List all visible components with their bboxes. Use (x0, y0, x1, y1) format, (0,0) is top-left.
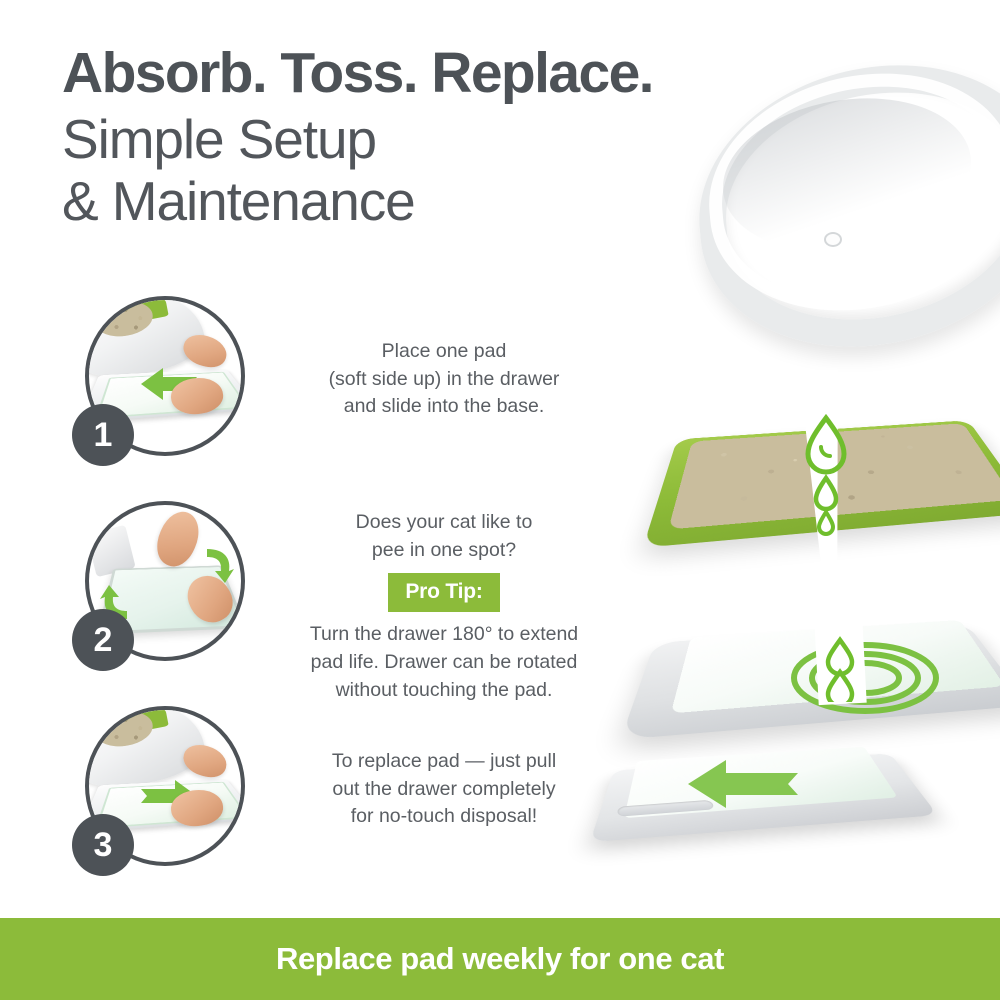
step-2-question-line-2: pee in one spot? (268, 537, 620, 565)
step-3-line-3: for no-touch disposal! (268, 803, 620, 831)
banner-text: Replace pad weekly for one cat (276, 941, 724, 977)
step-1-line-2: (soft side up) in the drawer (268, 366, 620, 394)
liquid-droplets-lower-icon (822, 636, 858, 702)
headline-line-3: & Maintenance (62, 171, 702, 233)
infographic-poster: Absorb. Toss. Replace. Simple Setup & Ma… (0, 0, 1000, 1000)
pro-tip-badge: Pro Tip: (388, 573, 499, 612)
step-3-text: To replace pad — just pull out the drawe… (268, 748, 620, 831)
step-2-line-2: pad life. Drawer can be rotated (268, 649, 620, 677)
step-3-line-1: To replace pad — just pull (268, 748, 620, 776)
headline-line-2: Simple Setup (62, 109, 702, 171)
step-number-badge-1: 1 (72, 404, 134, 466)
step-1-line-3: and slide into the base. (268, 393, 620, 421)
step-item-1: 1 Place one pad (soft side up) in the dr… (0, 296, 640, 501)
step-3-line-2: out the drawer completely (268, 776, 620, 804)
step-2-text: Does your cat like to pee in one spot? P… (268, 509, 620, 704)
page-title: Absorb. Toss. Replace. Simple Setup & Ma… (62, 44, 702, 232)
step-number-badge-2: 2 (72, 609, 134, 671)
top-rim-notch (826, 234, 840, 245)
hand-shape-top (149, 506, 206, 573)
headline-line-1: Absorb. Toss. Replace. (62, 44, 702, 103)
bottom-banner: Replace pad weekly for one cat (0, 918, 1000, 1000)
step-2-line-3: without touching the pad. (268, 677, 620, 705)
liquid-droplets-icon (804, 412, 848, 542)
step-item-3: 3 To replace pad — just pull out the dra… (0, 706, 640, 911)
step-1-line-1: Place one pad (268, 338, 620, 366)
step-item-2: 2 Does your cat like to pee in one spot?… (0, 501, 640, 706)
steps-list: 1 Place one pad (soft side up) in the dr… (0, 296, 640, 911)
step-2-line-1: Turn the drawer 180° to extend (268, 621, 620, 649)
step-2-question-line-1: Does your cat like to (268, 509, 620, 537)
step-1-text: Place one pad (soft side up) in the draw… (268, 338, 620, 421)
step-number-badge-3: 3 (72, 814, 134, 876)
